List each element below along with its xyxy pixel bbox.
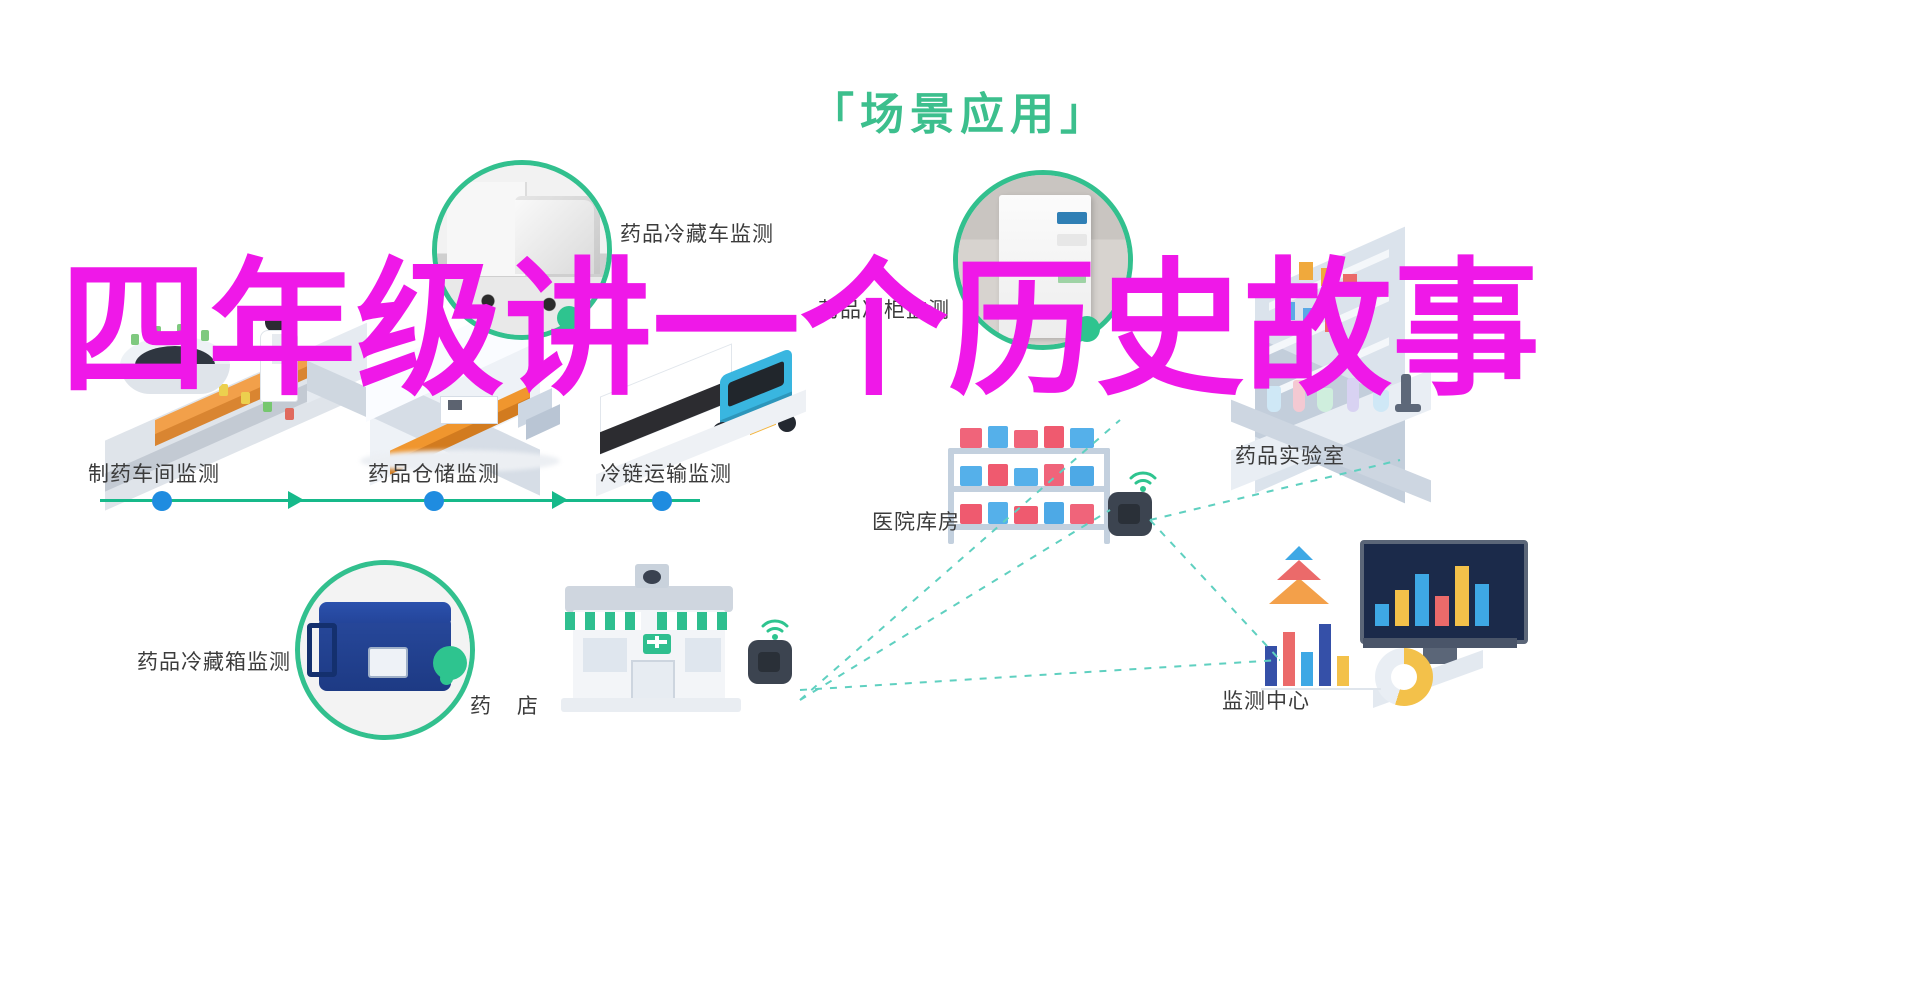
timeline-dot-1 [152,491,172,511]
label-cold-chain-transport: 冷链运输监测 [600,458,732,488]
accent-dot-small [440,672,453,685]
arrow-right-icon-1 [288,491,304,509]
wifi-icon [760,618,790,646]
timeline-dot-3 [652,491,672,511]
page-title: 「场景应用」 [0,78,1920,142]
label-drug-laboratory: 药品实验室 [1235,440,1345,470]
arrow-right-icon-2 [552,491,568,509]
label-monitoring-center: 监测中心 [1222,685,1310,715]
timeline-line [100,499,700,502]
wifi-icon-hospital [1128,470,1158,498]
label-production-workshop: 制药车间监测 [88,458,220,488]
timeline-dot-2 [424,491,444,511]
overlay-headline: 四年级讲一个历史故事 [60,255,1860,405]
label-drug-warehouse: 药品仓储监测 [368,458,500,488]
poster-canvas: 「场景应用」 [0,0,1920,1000]
label-pharmacy-store: 药 店 [470,690,548,720]
label-hospital-storeroom: 医院库房 [872,506,960,536]
label-cooler-box: 药品冷藏箱监测 [137,646,291,676]
